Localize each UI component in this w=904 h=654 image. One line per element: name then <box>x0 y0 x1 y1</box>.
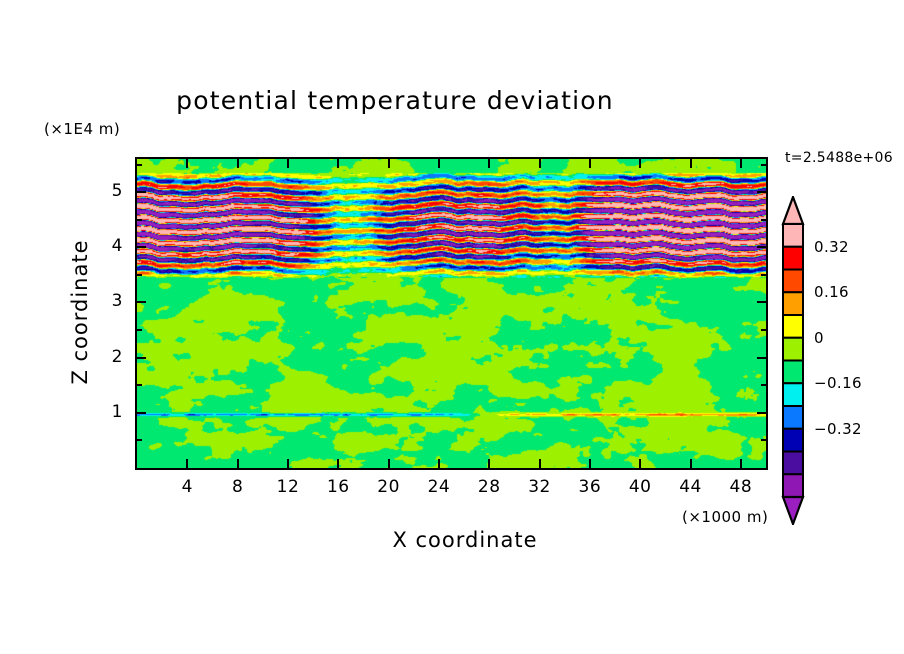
x-tick-mark <box>438 459 440 468</box>
y-minor-tick-mark <box>761 439 766 441</box>
x-axis-title: X coordinate <box>270 528 660 552</box>
y-tick-mark <box>137 357 146 359</box>
y-tick-mark <box>137 301 146 303</box>
x-tick-mark <box>639 459 641 468</box>
y-minor-tick-mark <box>761 274 766 276</box>
colorbar-tick-label: 0.32 <box>814 238 849 256</box>
x-tick-mark <box>337 159 339 168</box>
x-tick-label: 28 <box>469 477 509 497</box>
x-tick-mark <box>589 459 591 468</box>
y-tick-mark <box>757 246 766 248</box>
colorbar-tick-label: −0.32 <box>814 420 862 438</box>
y-minor-tick-mark <box>761 164 766 166</box>
y-tick-mark <box>137 191 146 193</box>
x-tick-mark <box>237 159 239 168</box>
x-tick-label: 12 <box>268 477 308 497</box>
y-tick-label: 2 <box>93 347 123 367</box>
colorbar-band <box>783 452 803 475</box>
y-minor-tick-mark <box>761 329 766 331</box>
y-minor-tick-mark <box>137 384 142 386</box>
colorbar-band <box>783 315 803 338</box>
y-minor-tick-mark <box>137 329 142 331</box>
x-tick-label: 4 <box>167 477 207 497</box>
x-tick-mark <box>186 459 188 468</box>
page-title: potential temperature deviation <box>0 86 790 115</box>
colorbar-band <box>783 224 803 247</box>
y-tick-mark <box>757 301 766 303</box>
colorbar-tick-label: 0 <box>814 329 824 347</box>
colorbar-band <box>783 406 803 429</box>
x-tick-label: 44 <box>671 477 711 497</box>
y-tick-label: 3 <box>93 291 123 311</box>
y-minor-tick-mark <box>761 384 766 386</box>
x-tick-label: 40 <box>620 477 660 497</box>
y-tick-label: 4 <box>93 236 123 256</box>
y-unit-label: (×1E4 m) <box>44 120 120 138</box>
y-minor-tick-mark <box>137 164 142 166</box>
y-tick-mark <box>757 357 766 359</box>
y-minor-tick-mark <box>761 219 766 221</box>
x-unit-label: (×1000 m) <box>682 508 768 526</box>
x-tick-mark <box>740 159 742 168</box>
y-minor-tick-mark <box>137 219 142 221</box>
colorbar <box>781 196 805 525</box>
y-tick-mark <box>757 191 766 193</box>
x-tick-mark <box>388 459 390 468</box>
x-tick-mark <box>237 459 239 468</box>
y-tick-label: 5 <box>93 181 123 201</box>
x-tick-label: 16 <box>318 477 358 497</box>
colorbar-band <box>783 474 803 497</box>
x-tick-label: 8 <box>218 477 258 497</box>
x-tick-label: 48 <box>721 477 761 497</box>
colorbar-band <box>783 429 803 452</box>
x-tick-mark <box>690 159 692 168</box>
x-tick-mark <box>589 159 591 168</box>
y-minor-tick-mark <box>137 274 142 276</box>
x-tick-mark <box>539 159 541 168</box>
x-tick-mark <box>287 159 289 168</box>
colorbar-tick-label: −0.16 <box>814 374 862 392</box>
colorbar-over-arrow <box>783 197 803 224</box>
x-tick-mark <box>488 459 490 468</box>
colorbar-tick-label: 0.16 <box>814 283 849 301</box>
x-tick-mark <box>287 459 289 468</box>
temperature-deviation-field <box>137 159 766 468</box>
contour-plot-area <box>135 157 768 470</box>
y-minor-tick-mark <box>137 439 142 441</box>
x-tick-mark <box>388 159 390 168</box>
colorbar-band <box>783 383 803 406</box>
colorbar-under-arrow <box>783 497 803 524</box>
y-tick-mark <box>137 412 146 414</box>
colorbar-band <box>783 247 803 270</box>
x-tick-label: 20 <box>369 477 409 497</box>
x-tick-mark <box>740 459 742 468</box>
x-tick-mark <box>186 159 188 168</box>
x-tick-mark <box>690 459 692 468</box>
x-tick-label: 36 <box>570 477 610 497</box>
y-tick-mark <box>757 412 766 414</box>
x-tick-mark <box>438 159 440 168</box>
x-tick-label: 32 <box>520 477 560 497</box>
x-tick-mark <box>539 459 541 468</box>
y-tick-label: 1 <box>93 402 123 422</box>
colorbar-band <box>783 292 803 315</box>
colorbar-band <box>783 338 803 361</box>
y-axis-title: Z coordinate <box>68 212 92 412</box>
time-stamp: t=2.5488e+06 <box>785 150 893 166</box>
x-tick-mark <box>337 459 339 468</box>
colorbar-band <box>783 270 803 293</box>
colorbar-band <box>783 361 803 384</box>
x-tick-mark <box>639 159 641 168</box>
x-tick-mark <box>488 159 490 168</box>
y-tick-mark <box>137 246 146 248</box>
x-tick-label: 24 <box>419 477 459 497</box>
